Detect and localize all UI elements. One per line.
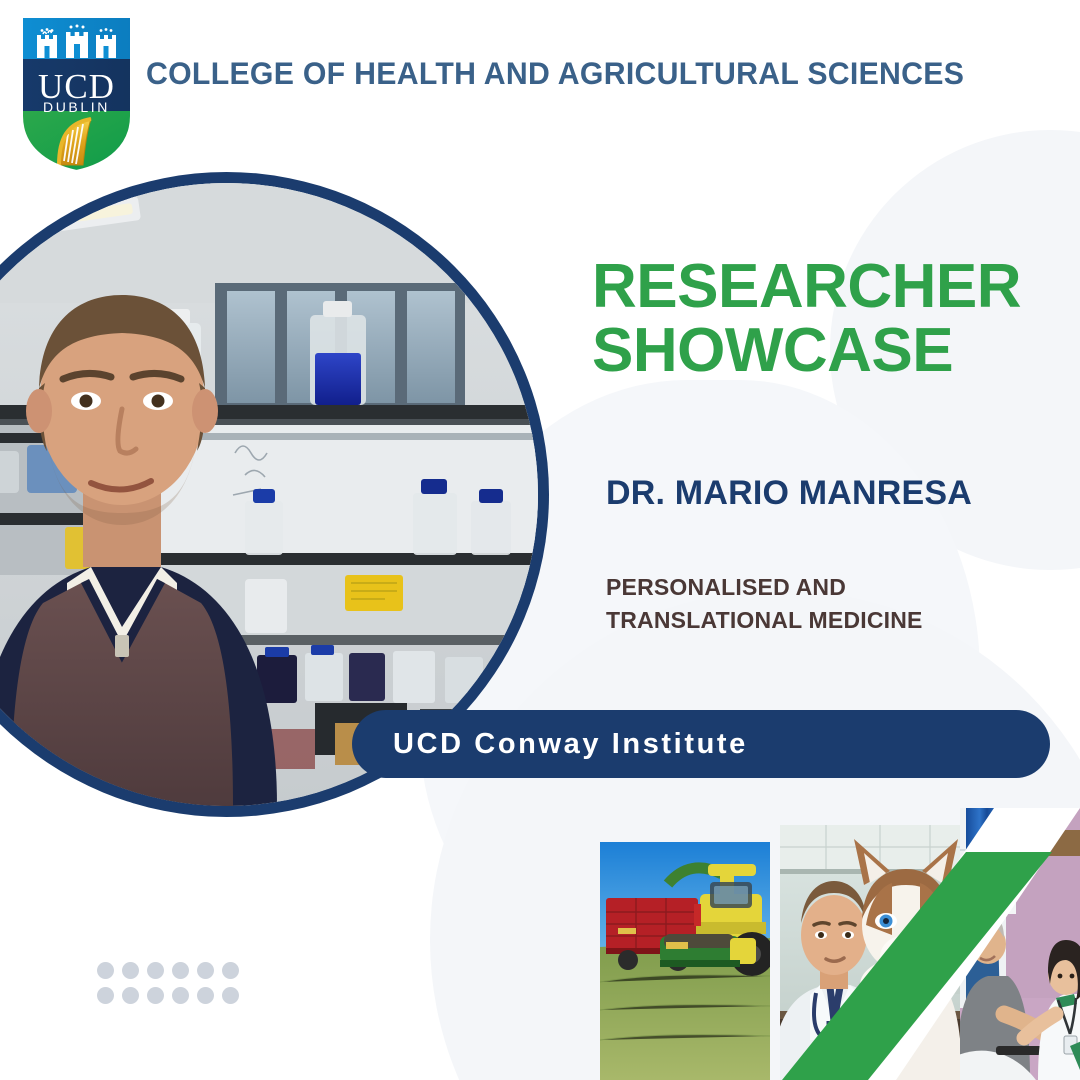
decorative-dot xyxy=(197,987,214,1004)
decorative-dot xyxy=(147,962,164,979)
decorative-dot xyxy=(97,987,114,1004)
decorative-dot xyxy=(147,987,164,1004)
department-name: PERSONALISED AND TRANSLATIONAL MEDICINE xyxy=(606,571,923,636)
veterinary-vet-with-husky-photo xyxy=(780,825,960,1080)
decorative-dot xyxy=(222,962,239,979)
department-line-1: PERSONALISED AND xyxy=(606,571,923,604)
decorative-dot xyxy=(197,962,214,979)
decorative-dot xyxy=(97,962,114,979)
main-title-line-2: SHOWCASE xyxy=(592,319,1062,383)
researcher-name: DR. MARIO MANRESA xyxy=(606,474,972,513)
ucd-dublin-shield-logo: UCD DUBLIN xyxy=(17,12,136,175)
institute-banner: UCD Conway Institute xyxy=(352,710,1050,778)
main-title-line-1: RESEARCHER xyxy=(592,252,1021,321)
main-title: RESEARCHER SHOWCASE xyxy=(592,255,1062,383)
agriculture-silage-harvester-photo xyxy=(600,842,770,1080)
header-bar: UCD DUBLIN COLLEGE OF HEALTH AND AGRICUL… xyxy=(0,0,1080,175)
header-title: COLLEGE OF HEALTH AND AGRICULTURAL SCIEN… xyxy=(146,55,964,92)
decorative-dot xyxy=(172,987,189,1004)
decorative-dot-grid xyxy=(97,962,243,1008)
photo-cluster xyxy=(600,808,1080,1080)
institute-banner-label: UCD Conway Institute xyxy=(393,728,748,761)
svg-text:DUBLIN: DUBLIN xyxy=(43,99,110,115)
department-line-2: TRANSLATIONAL MEDICINE xyxy=(606,604,923,637)
decorative-dot xyxy=(122,962,139,979)
decorative-dot xyxy=(172,962,189,979)
decorative-dot xyxy=(222,987,239,1004)
researcher-showcase-poster: UCD DUBLIN COLLEGE OF HEALTH AND AGRICUL… xyxy=(0,0,1080,1080)
decorative-dot xyxy=(122,987,139,1004)
healthcare-nurse-with-patient-photo xyxy=(960,808,1080,1080)
